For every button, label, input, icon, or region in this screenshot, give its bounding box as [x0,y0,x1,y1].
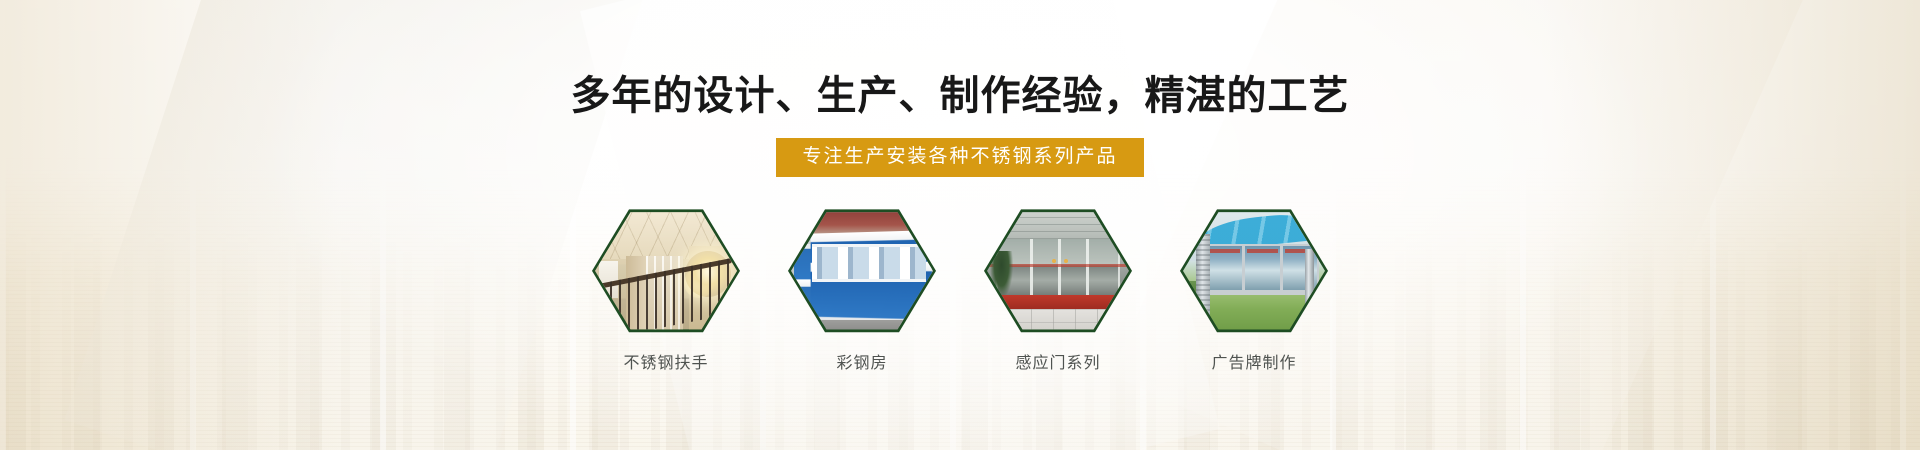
colour-steel-house-photo [791,210,933,332]
product-item-automatic-door-series[interactable]: 感应门系列 [973,207,1143,373]
product-hexagon-row: 不锈钢扶手 彩钢房 [581,207,1339,373]
hexagon-image-clip [595,210,737,332]
automatic-door-photo [987,210,1129,332]
banner-subtitle-badge: 专注生产安装各种不锈钢系列产品 [776,138,1143,177]
banner-headline: 多年的设计、生产、制作经验，精湛的工艺 [571,76,1350,116]
hexagon-frame[interactable] [592,207,740,335]
billboard-photo [1183,210,1325,332]
promotional-banner: 多年的设计、生产、制作经验，精湛的工艺 专注生产安装各种不锈钢系列产品 [0,0,1920,450]
hexagon-image-clip [987,210,1129,332]
hexagon-frame[interactable] [788,207,936,335]
product-item-billboard-fabrication[interactable]: 广告牌制作 [1169,207,1339,373]
banner-content: 多年的设计、生产、制作经验，精湛的工艺 专注生产安装各种不锈钢系列产品 [0,0,1920,450]
product-caption: 不锈钢扶手 [623,349,708,373]
hexagon-frame[interactable] [1180,207,1328,335]
product-item-stainless-steel-handrail[interactable]: 不锈钢扶手 [581,207,751,373]
product-caption: 彩钢房 [836,349,887,373]
product-item-colour-steel-house[interactable]: 彩钢房 [777,207,947,373]
product-caption: 感应门系列 [1015,349,1100,373]
product-caption: 广告牌制作 [1211,349,1296,373]
handrail-photo [595,210,737,332]
hexagon-frame[interactable] [984,207,1132,335]
hexagon-image-clip [791,210,933,332]
hexagon-image-clip [1183,210,1325,332]
